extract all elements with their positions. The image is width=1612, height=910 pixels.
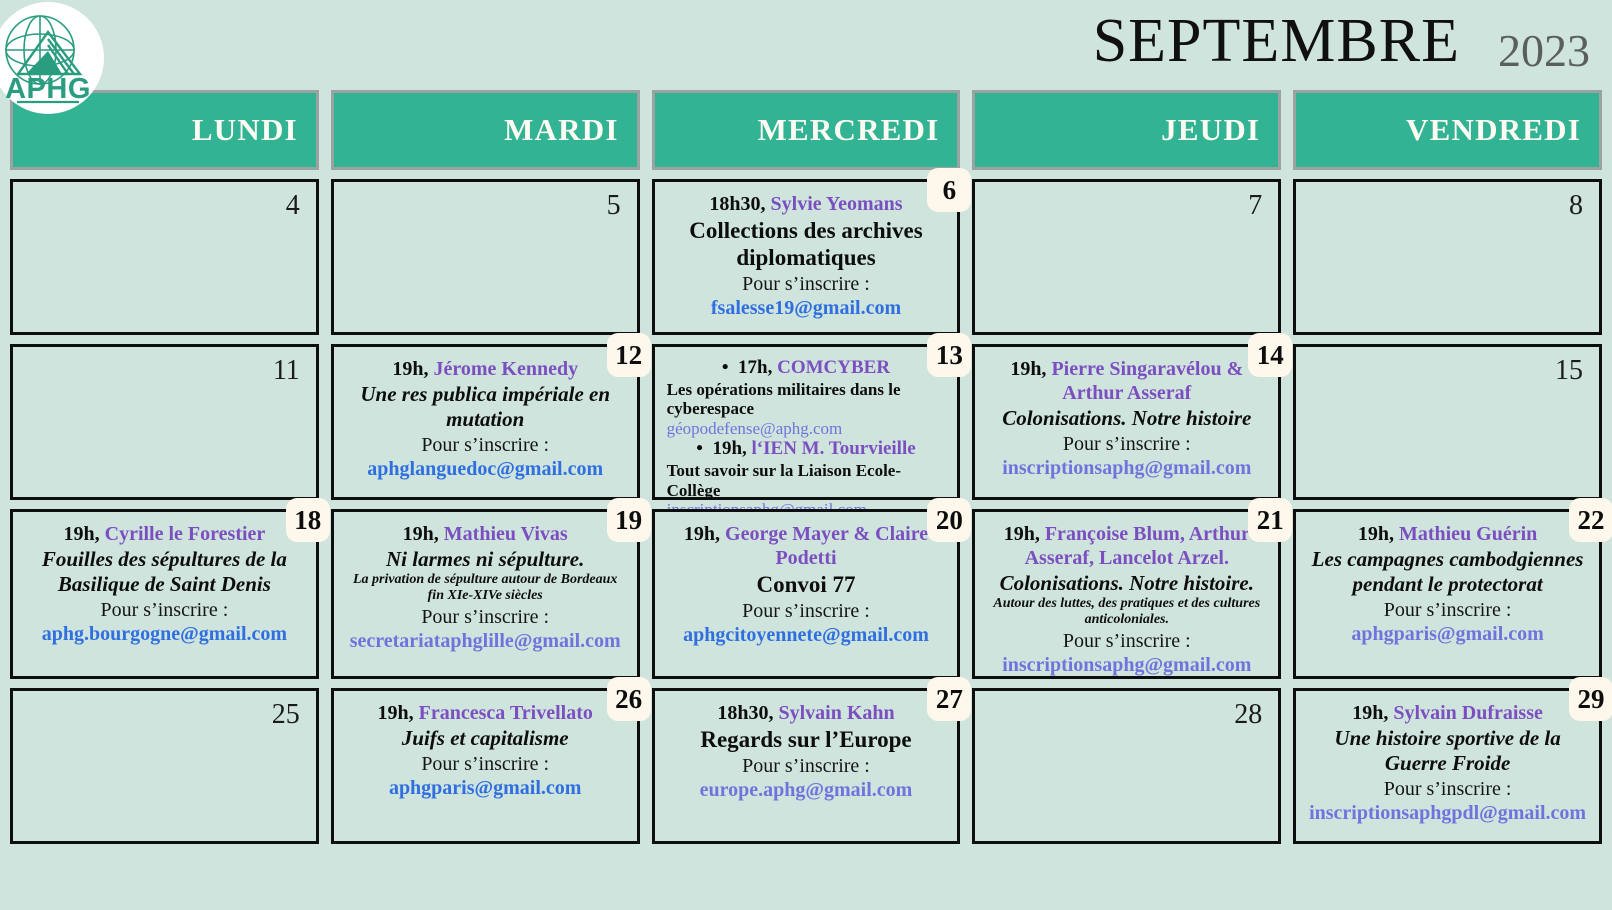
event-title: Les campagnes cambodgiennes pendant le p… bbox=[1308, 547, 1587, 597]
day-number: 28 bbox=[1234, 699, 1262, 731]
calendar-cell-empty-28[interactable]: 28 bbox=[972, 688, 1281, 844]
event-title: Juifs et capitalisme bbox=[346, 726, 625, 751]
day-number-badge: 14 bbox=[1248, 333, 1292, 377]
register-label: Pour s’inscrire : bbox=[987, 629, 1266, 653]
day-number: 4 bbox=[286, 190, 300, 222]
calendar-cell-day-13[interactable]: 1317h, COMCYBERLes opérations militaires… bbox=[652, 344, 961, 500]
event-headline: 19h, Sylvain Dufraisse bbox=[1308, 701, 1587, 725]
event-headline: 19h, Pierre Singaravélou & Arthur Assera… bbox=[987, 357, 1266, 405]
calendar-cell-empty-15[interactable]: 15 bbox=[1293, 344, 1602, 500]
event-headline: 19h, Françoise Blum, Arthur Asseraf, Lan… bbox=[987, 522, 1266, 570]
day-number-badge: 27 bbox=[927, 677, 971, 721]
calendar-cell-day-29[interactable]: 2919h, Sylvain DufraisseUne histoire spo… bbox=[1293, 688, 1602, 844]
event-title: Collections des archives diplomatiques bbox=[667, 217, 946, 271]
register-label: Pour s’inscrire : bbox=[25, 598, 304, 622]
event-title: Colonisations. Notre histoire bbox=[987, 406, 1266, 431]
event-time: 19h, bbox=[1010, 358, 1046, 380]
event-speaker: l‘IEN M. Tourvieille bbox=[752, 438, 916, 459]
day-number: 8 bbox=[1569, 190, 1583, 222]
register-label: Pour s’inscrire : bbox=[346, 752, 625, 776]
event-email[interactable]: aphgcitoyennete@gmail.com bbox=[667, 623, 946, 647]
event-speaker: Mathieu Guérin bbox=[1399, 523, 1537, 545]
event-email[interactable]: europe.aphg@gmail.com bbox=[667, 778, 946, 802]
day-number: 11 bbox=[273, 355, 300, 387]
day-number-badge: 19 bbox=[607, 498, 651, 542]
calendar-cell-day-19[interactable]: 1919h, Mathieu VivasNi larmes ni sépultu… bbox=[331, 509, 640, 679]
calendar-grid: LUNDIMARDIMERCREDIJEUDIVENDREDI45618h30,… bbox=[10, 90, 1602, 844]
aphg-logo: APHG bbox=[0, 2, 104, 114]
day-number-badge: 26 bbox=[607, 677, 651, 721]
day-number-badge: 22 bbox=[1569, 498, 1612, 542]
weekday-header-jeudi: JEUDI bbox=[972, 90, 1281, 170]
register-label: Pour s’inscrire : bbox=[346, 433, 625, 457]
day-number-badge: 20 bbox=[927, 498, 971, 542]
event-title: Ni larmes ni sépulture. bbox=[346, 547, 625, 572]
weekday-header-label: LUNDI bbox=[192, 112, 298, 148]
event-speaker: Cyrille le Forestier bbox=[105, 523, 266, 545]
weekday-header-label: MARDI bbox=[504, 112, 619, 148]
event-email[interactable]: aphgparis@gmail.com bbox=[1308, 622, 1587, 646]
weekday-header-vendredi: VENDREDI bbox=[1293, 90, 1602, 170]
day-number-badge: 21 bbox=[1248, 498, 1292, 542]
event-title: Regards sur l’Europe bbox=[667, 726, 946, 753]
weekday-header-label: JEUDI bbox=[1161, 112, 1260, 148]
event-speaker: Sylvain Kahn bbox=[778, 702, 894, 724]
calendar-cell-day-18[interactable]: 1819h, Cyrille le ForestierFouilles des … bbox=[10, 509, 319, 679]
calendar-cell-day-22[interactable]: 2219h, Mathieu GuérinLes campagnes cambo… bbox=[1293, 509, 1602, 679]
calendar-cell-empty-4[interactable]: 4 bbox=[10, 179, 319, 335]
event-title: Une res publica impériale en mutation bbox=[346, 382, 625, 432]
weekday-header-mercredi: MERCREDI bbox=[652, 90, 961, 170]
calendar-cell-empty-25[interactable]: 25 bbox=[10, 688, 319, 844]
event-time: 19h, bbox=[1358, 523, 1394, 545]
weekday-header-mardi: MARDI bbox=[331, 90, 640, 170]
event-speaker: COMCYBER bbox=[777, 357, 890, 378]
calendar-cell-day-27[interactable]: 2718h30, Sylvain KahnRegards sur l’Europ… bbox=[652, 688, 961, 844]
calendar-cell-day-20[interactable]: 2019h, George Mayer & Claire PodettiConv… bbox=[652, 509, 961, 679]
calendar-titlebar: SEPTEMBRE 2023 bbox=[0, 0, 1612, 88]
event-time: 18h30, bbox=[709, 193, 765, 215]
event-headline: 19h, George Mayer & Claire Podetti bbox=[667, 522, 946, 570]
day-number-badge: 6 bbox=[927, 168, 971, 212]
register-label: Pour s’inscrire : bbox=[667, 272, 946, 296]
event-title: Tout savoir sur la Liaison Ecole-Collège bbox=[667, 461, 946, 500]
event-title: Colonisations. Notre histoire. bbox=[987, 571, 1266, 596]
event-time: 19h, bbox=[1004, 523, 1040, 545]
event-time: 17h, bbox=[738, 357, 772, 378]
event-speaker: Françoise Blum, Arthur Asseraf, Lancelot… bbox=[1025, 523, 1250, 569]
day-number: 15 bbox=[1555, 355, 1583, 387]
event-headline: 19h, Francesca Trivellato bbox=[346, 701, 625, 725]
event-speaker: Jérome Kennedy bbox=[433, 358, 578, 380]
event-title: Les opérations militaires dans le cybere… bbox=[667, 380, 946, 419]
event-title: Convoi 77 bbox=[667, 571, 946, 598]
event-headline: 18h30, Sylvie Yeomans bbox=[667, 192, 946, 216]
calendar-cell-day-26[interactable]: 2619h, Francesca TrivellatoJuifs et capi… bbox=[331, 688, 640, 844]
calendar-cell-day-21[interactable]: 2119h, Françoise Blum, Arthur Asseraf, L… bbox=[972, 509, 1281, 679]
event-headline: 19h, Mathieu Vivas bbox=[346, 522, 625, 546]
event-email[interactable]: aphglanguedoc@gmail.com bbox=[346, 457, 625, 481]
event-email[interactable]: aphg.bourgogne@gmail.com bbox=[25, 622, 304, 646]
event-title: Une histoire sportive de la Guerre Froid… bbox=[1308, 726, 1587, 776]
event-time: 19h, bbox=[403, 523, 439, 545]
event-subtitle: Autour des luttes, des pratiques et des … bbox=[987, 596, 1266, 628]
event-time: 19h, bbox=[392, 358, 428, 380]
weekday-header-label: MERCREDI bbox=[758, 112, 940, 148]
calendar-cell-empty-5[interactable]: 5 bbox=[331, 179, 640, 335]
event-email[interactable]: secretariataphglille@gmail.com bbox=[346, 629, 625, 653]
register-label: Pour s’inscrire : bbox=[667, 754, 946, 778]
page-title: SEPTEMBRE bbox=[1093, 10, 1460, 72]
calendar-cell-day-12[interactable]: 1219h, Jérome KennedyUne res publica imp… bbox=[331, 344, 640, 500]
event-speaker: Sylvie Yeomans bbox=[771, 193, 903, 215]
calendar-cell-empty-8[interactable]: 8 bbox=[1293, 179, 1602, 335]
event-email[interactable]: aphgparis@gmail.com bbox=[346, 776, 625, 800]
event-title: Fouilles des sépultures de la Basilique … bbox=[25, 547, 304, 597]
day-number-badge: 13 bbox=[927, 333, 971, 377]
event-speaker: Mathieu Vivas bbox=[444, 523, 568, 545]
event-time: 19h, bbox=[712, 438, 746, 459]
day-number: 5 bbox=[607, 190, 621, 222]
event-email[interactable]: inscriptionsaphg@gmail.com bbox=[987, 456, 1266, 480]
calendar-cell-day-14[interactable]: 1419h, Pierre Singaravélou & Arthur Asse… bbox=[972, 344, 1281, 500]
event-email[interactable]: inscriptionsaphg@gmail.com bbox=[987, 653, 1266, 677]
event-email[interactable]: fsalesse19@gmail.com bbox=[667, 296, 946, 320]
event-headline: 19h, l‘IEN M. Tourvieille bbox=[667, 438, 946, 461]
day-number: 25 bbox=[272, 699, 300, 731]
day-number-badge: 29 bbox=[1569, 677, 1612, 721]
day-number-badge: 12 bbox=[607, 333, 651, 377]
calendar-cell-empty-11[interactable]: 11 bbox=[10, 344, 319, 500]
weekday-header-label: VENDREDI bbox=[1406, 112, 1581, 148]
event-subtitle: La privation de sépulture autour de Bord… bbox=[346, 572, 625, 604]
calendar-cell-empty-7[interactable]: 7 bbox=[972, 179, 1281, 335]
year-label: 2023 bbox=[1498, 28, 1590, 74]
event-headline: 19h, Cyrille le Forestier bbox=[25, 522, 304, 546]
event-speaker: Pierre Singaravélou & Arthur Asseraf bbox=[1051, 358, 1243, 404]
day-number: 7 bbox=[1248, 190, 1262, 222]
event-time: 18h30, bbox=[717, 702, 773, 724]
calendar-cell-day-6[interactable]: 618h30, Sylvie YeomansCollections des ar… bbox=[652, 179, 961, 335]
event-headline: 19h, Mathieu Guérin bbox=[1308, 522, 1587, 546]
aphg-logo-icon: APHG bbox=[0, 6, 100, 110]
svg-text:APHG: APHG bbox=[5, 73, 91, 105]
event-speaker: Sylvain Dufraisse bbox=[1393, 702, 1542, 724]
event-email[interactable]: géopodefense@aphg.com bbox=[667, 419, 946, 439]
register-label: Pour s’inscrire : bbox=[987, 432, 1266, 456]
register-label: Pour s’inscrire : bbox=[1308, 598, 1587, 622]
calendar-page: SEPTEMBRE 2023 APHG LUNDIMARDIMERCREDIJE… bbox=[0, 0, 1612, 910]
event-email[interactable]: inscriptionsaphgpdl@gmail.com bbox=[1308, 801, 1587, 825]
event-time: 19h, bbox=[378, 702, 414, 724]
register-label: Pour s’inscrire : bbox=[667, 599, 946, 623]
event-headline: 19h, Jérome Kennedy bbox=[346, 357, 625, 381]
event-time: 19h, bbox=[1352, 702, 1388, 724]
event-speaker: George Mayer & Claire Podetti bbox=[725, 523, 928, 569]
event-headline: 17h, COMCYBER bbox=[667, 357, 946, 380]
event-headline: 18h30, Sylvain Kahn bbox=[667, 701, 946, 725]
event-speaker: Francesca Trivellato bbox=[419, 702, 593, 724]
event-time: 19h, bbox=[64, 523, 100, 545]
event-time: 19h, bbox=[684, 523, 720, 545]
register-label: Pour s’inscrire : bbox=[346, 605, 625, 629]
day-number-badge: 18 bbox=[286, 498, 330, 542]
register-label: Pour s’inscrire : bbox=[1308, 777, 1587, 801]
